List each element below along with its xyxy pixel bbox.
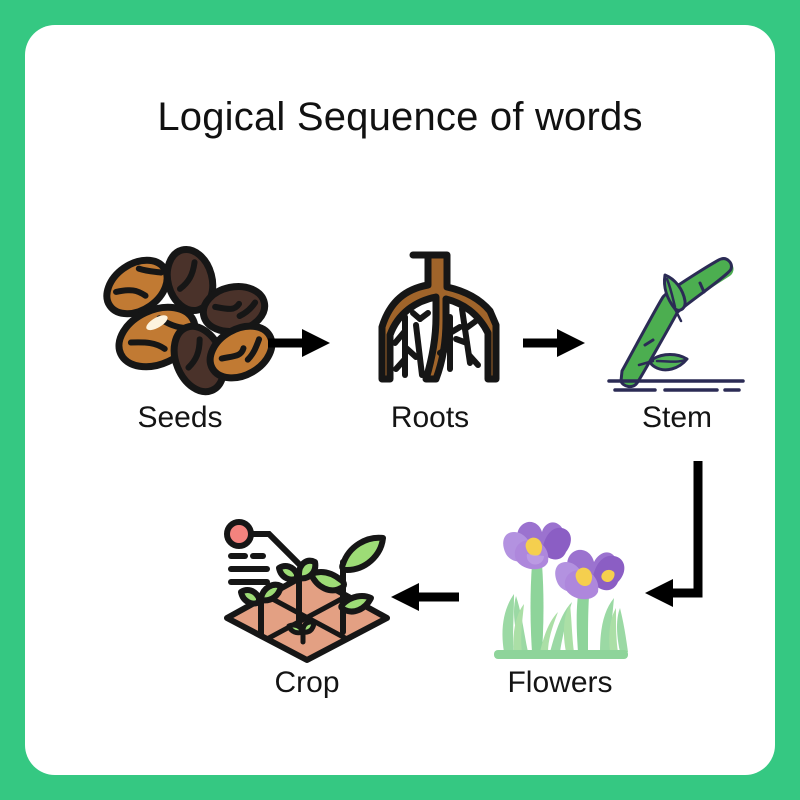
flowers-icon <box>470 512 650 662</box>
seeds-icon <box>95 247 265 397</box>
node-label-crop: Crop <box>207 668 407 698</box>
node-roots[interactable]: Roots <box>335 247 525 433</box>
arrow-flowers-to-crop <box>385 577 459 617</box>
node-flowers[interactable]: Flowers <box>460 512 660 698</box>
poster-frame: Logical Sequence of words <box>0 0 800 800</box>
node-seeds[interactable]: Seeds <box>80 247 280 433</box>
node-label-seeds: Seeds <box>80 403 280 433</box>
page-title: Logical Sequence of words <box>25 95 775 140</box>
crop-icon <box>217 512 397 662</box>
node-label-flowers: Flowers <box>460 668 660 698</box>
content-card: Logical Sequence of words <box>25 25 775 775</box>
node-label-stem: Stem <box>587 403 767 433</box>
roots-icon <box>350 247 510 397</box>
node-crop[interactable]: Crop <box>207 512 407 698</box>
stem-icon <box>607 247 747 397</box>
node-label-roots: Roots <box>335 403 525 433</box>
node-stem[interactable]: Stem <box>587 247 767 433</box>
arrow-stem-to-flowers <box>643 457 707 605</box>
arrow-seeds-to-roots <box>268 323 330 363</box>
arrow-roots-to-stem <box>523 323 585 363</box>
